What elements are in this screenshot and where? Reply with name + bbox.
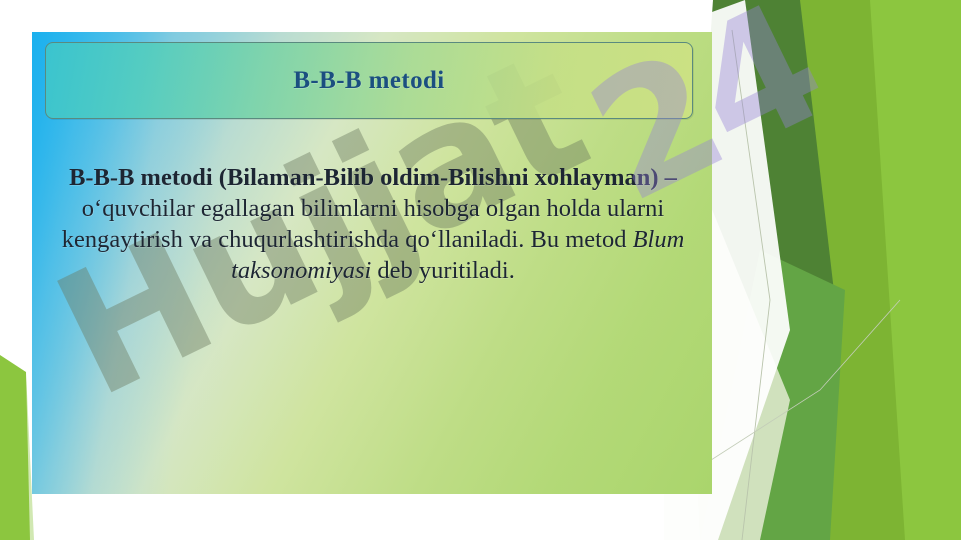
title-box: B-B-B metodi: [45, 42, 693, 119]
deco-shape-right-outer: [800, 0, 961, 540]
body-regular-segment-1: o‘quvchilar egallagan bilimlarni hisobga…: [62, 195, 664, 253]
deco-shape-right-olive: [742, 0, 905, 540]
deco-hairline-2: [680, 300, 900, 480]
deco-hairline-1: [732, 30, 770, 540]
body-regular-segment-2: deb yuritiladi.: [371, 257, 515, 284]
deco-shape-mid-green: [700, 250, 845, 540]
slide-canvas: Hujjat B-B-B metodi B-B-B metodi (Bilama…: [32, 32, 712, 494]
body-bold-segment: B-B-B metodi (Bilaman-Bilib oldim-Bilish…: [69, 164, 677, 191]
slide-body-text: B-B-B metodi (Bilaman-Bilib oldim-Bilish…: [58, 162, 688, 286]
deco-shape-left-wedge: [0, 355, 34, 540]
slide-root: Hujjat B-B-B metodi B-B-B metodi (Bilama…: [0, 0, 961, 540]
slide-title: B-B-B metodi: [293, 67, 444, 95]
